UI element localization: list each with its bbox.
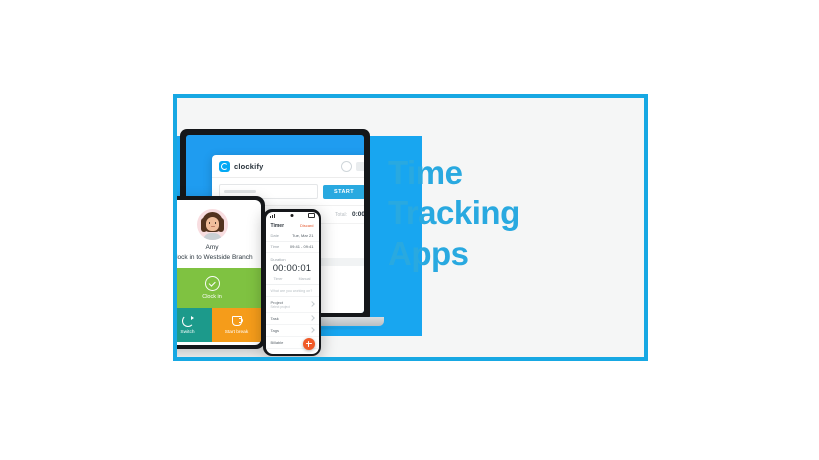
menu-icon[interactable] xyxy=(356,162,364,171)
list-item-label: Tags xyxy=(271,328,279,333)
list-item[interactable]: Task xyxy=(266,313,319,325)
phone-mode-tabs: Timer Manual xyxy=(266,277,319,285)
list-item[interactable]: Tags xyxy=(266,325,319,337)
headline-line-2: Tracking xyxy=(388,193,520,233)
kiosk-app-body: Amy Clock in to Westside Branch Clock in… xyxy=(177,200,261,345)
phone-app-header: Timer Discard xyxy=(266,220,319,231)
battery-icon xyxy=(308,213,315,218)
switch-icon xyxy=(182,315,194,327)
tab-timer[interactable]: Timer xyxy=(274,277,283,281)
page-title: Time Tracking Apps xyxy=(388,153,520,274)
duration-label: Duration xyxy=(266,253,319,262)
clockify-logo-icon xyxy=(219,161,230,172)
avatar-body xyxy=(203,233,222,240)
time-label: Time xyxy=(271,244,280,249)
phone-status-bar xyxy=(266,212,319,220)
app-topbar: clockify xyxy=(212,155,364,178)
promo-card-inner: clockify START Total: 0:00 xyxy=(177,98,644,357)
task-prompt: Clock in to Westside Branch xyxy=(177,254,253,262)
tab-manual[interactable]: Manual xyxy=(299,277,311,281)
list-item[interactable]: ProjectSelect project xyxy=(266,297,319,313)
user-name: Amy xyxy=(206,244,219,251)
phone-screen: Timer Discard Date Tue, Mar 21 Time 09:4… xyxy=(266,212,319,354)
avatar-eye-right xyxy=(215,222,217,224)
chevron-right-icon xyxy=(309,315,315,321)
chevron-right-icon xyxy=(309,327,315,333)
coffee-cup-icon xyxy=(231,315,243,327)
total-label: Total: xyxy=(335,212,347,218)
list-item-label: Task xyxy=(271,316,279,321)
switch-button[interactable]: Switch xyxy=(177,308,212,342)
headline-line-3: Apps xyxy=(388,234,520,274)
chevron-right-icon xyxy=(309,301,315,307)
start-break-label: Start break xyxy=(225,330,248,335)
refresh-icon[interactable] xyxy=(341,161,352,172)
start-timer-button[interactable]: START xyxy=(323,185,364,199)
clock-in-button[interactable]: Clock in xyxy=(177,268,261,308)
date-field[interactable]: Date Tue, Mar 21 xyxy=(266,231,319,242)
signal-icon xyxy=(270,214,276,218)
phone-device: Timer Discard Date Tue, Mar 21 Time 09:4… xyxy=(263,209,321,356)
avatar-eye-left xyxy=(209,222,211,224)
duration-value: 00:00:01 xyxy=(266,262,319,277)
time-value: 09:41 - 09:41 xyxy=(290,244,314,249)
plus-icon[interactable] xyxy=(303,338,315,350)
description-input[interactable]: What are you working on? xyxy=(266,285,319,297)
date-value: Tue, Mar 21 xyxy=(292,233,313,238)
date-label: Date xyxy=(271,233,279,238)
promo-card: clockify START Total: 0:00 xyxy=(173,94,648,361)
tablet-screen: Amy Clock in to Westside Branch Clock in… xyxy=(177,200,261,345)
check-circle-icon xyxy=(205,276,220,291)
list-item-sub: Select project xyxy=(271,305,290,309)
tablet-action-bar: Switch Start break xyxy=(177,308,261,342)
list-item-label: ProjectSelect project xyxy=(271,300,290,309)
clockify-logo-text: clockify xyxy=(234,162,264,171)
avatar-face xyxy=(206,217,219,231)
phone-camera-notch xyxy=(291,214,294,217)
tablet-device: Amy Clock in to Westside Branch Clock in… xyxy=(177,196,265,349)
discard-button[interactable]: Discard xyxy=(300,223,314,228)
switch-label: Switch xyxy=(180,330,194,335)
list-item-label: Billable xyxy=(271,340,284,345)
phone-title: Timer xyxy=(271,223,285,229)
total-value: 0:00 xyxy=(352,211,364,218)
time-field[interactable]: Time 09:41 - 09:41 xyxy=(266,242,319,253)
start-break-button[interactable]: Start break xyxy=(212,308,261,342)
headline-line-1: Time xyxy=(388,153,520,193)
clock-in-label: Clock in xyxy=(202,294,222,300)
avatar xyxy=(197,209,228,240)
